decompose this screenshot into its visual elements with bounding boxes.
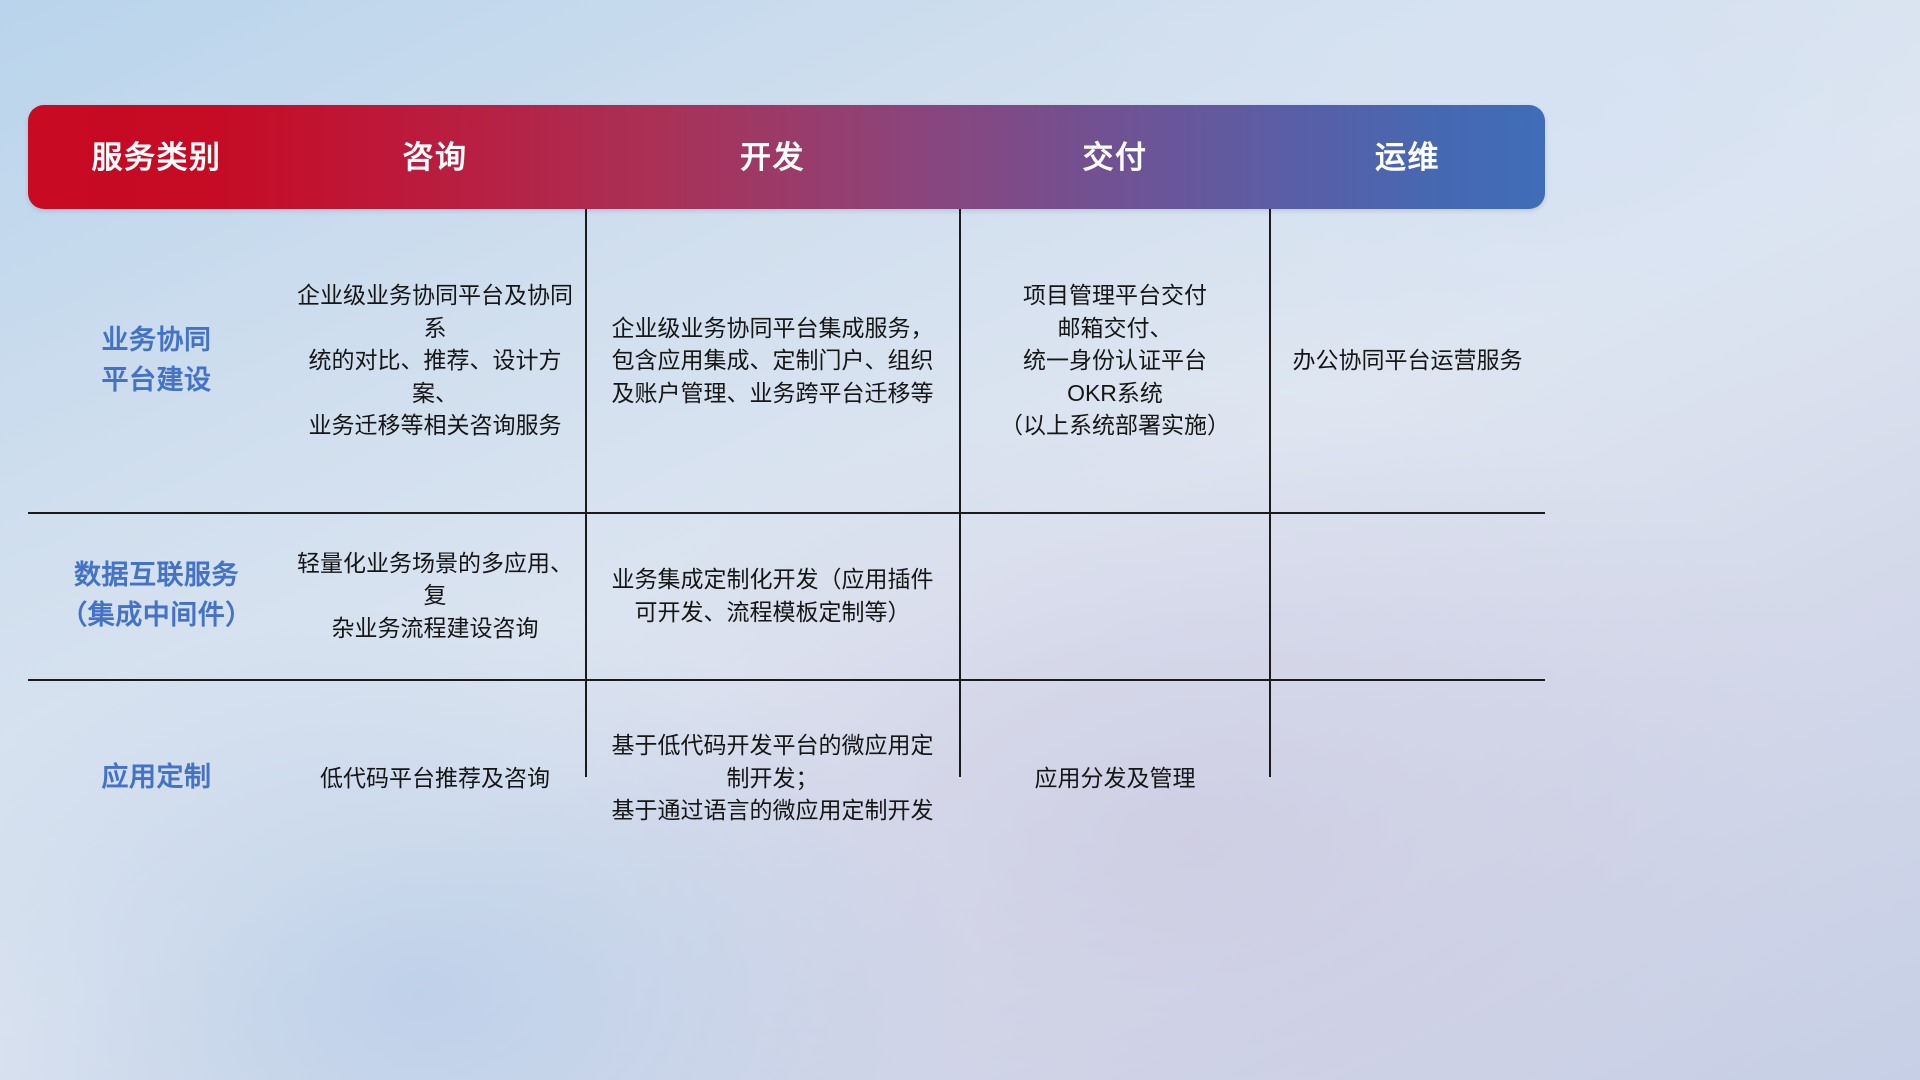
row-category-label: 应用定制 <box>28 679 285 877</box>
row-category-label: 业务协同 平台建设 <box>28 209 285 512</box>
cell-consulting: 低代码平台推荐及咨询 <box>285 679 585 877</box>
cell-consulting: 轻量化业务场景的多应用、复 杂业务流程建设咨询 <box>285 512 585 679</box>
cell-development: 基于低代码开发平台的微应用定 制开发； 基于通过语言的微应用定制开发 <box>585 679 960 877</box>
header-cell-service-category: 服务类别 <box>28 142 285 173</box>
row-divider <box>28 512 1545 514</box>
row-divider <box>28 679 1545 681</box>
table-row: 业务协同 平台建设 企业级业务协同平台及协同系 统的对比、推荐、设计方案、 业务… <box>28 209 1545 512</box>
cell-development: 业务集成定制化开发（应用插件 可开发、流程模板定制等） <box>585 512 960 679</box>
cell-consulting: 企业级业务协同平台及协同系 统的对比、推荐、设计方案、 业务迁移等相关咨询服务 <box>285 209 585 512</box>
table-row: 应用定制 低代码平台推荐及咨询 基于低代码开发平台的微应用定 制开发； 基于通过… <box>28 679 1545 877</box>
cell-delivery: 应用分发及管理 <box>960 679 1270 877</box>
cell-operations: 办公协同平台运营服务 <box>1270 209 1545 512</box>
cell-delivery <box>960 512 1270 679</box>
cell-operations <box>1270 512 1545 679</box>
header-cell-development: 开发 <box>585 142 960 173</box>
table-row: 数据互联服务 （集成中间件） 轻量化业务场景的多应用、复 杂业务流程建设咨询 业… <box>28 512 1545 679</box>
header-cell-delivery: 交付 <box>960 142 1270 173</box>
cell-development: 企业级业务协同平台集成服务， 包含应用集成、定制门户、组织 及账户管理、业务跨平… <box>585 209 960 512</box>
service-matrix-table: 服务类别 咨询 开发 交付 运维 业务协同 平台建设 企业级业务协同平台及协同系… <box>28 105 1545 777</box>
row-category-label: 数据互联服务 （集成中间件） <box>28 512 285 679</box>
table-header-row: 服务类别 咨询 开发 交付 运维 <box>28 105 1545 209</box>
header-cell-consulting: 咨询 <box>285 142 585 173</box>
header-cell-operations: 运维 <box>1270 142 1545 173</box>
cell-delivery: 项目管理平台交付 邮箱交付、 统一身份认证平台 OKR系统 （以上系统部署实施） <box>960 209 1270 512</box>
table-body: 业务协同 平台建设 企业级业务协同平台及协同系 统的对比、推荐、设计方案、 业务… <box>28 209 1545 777</box>
cell-operations <box>1270 679 1545 877</box>
